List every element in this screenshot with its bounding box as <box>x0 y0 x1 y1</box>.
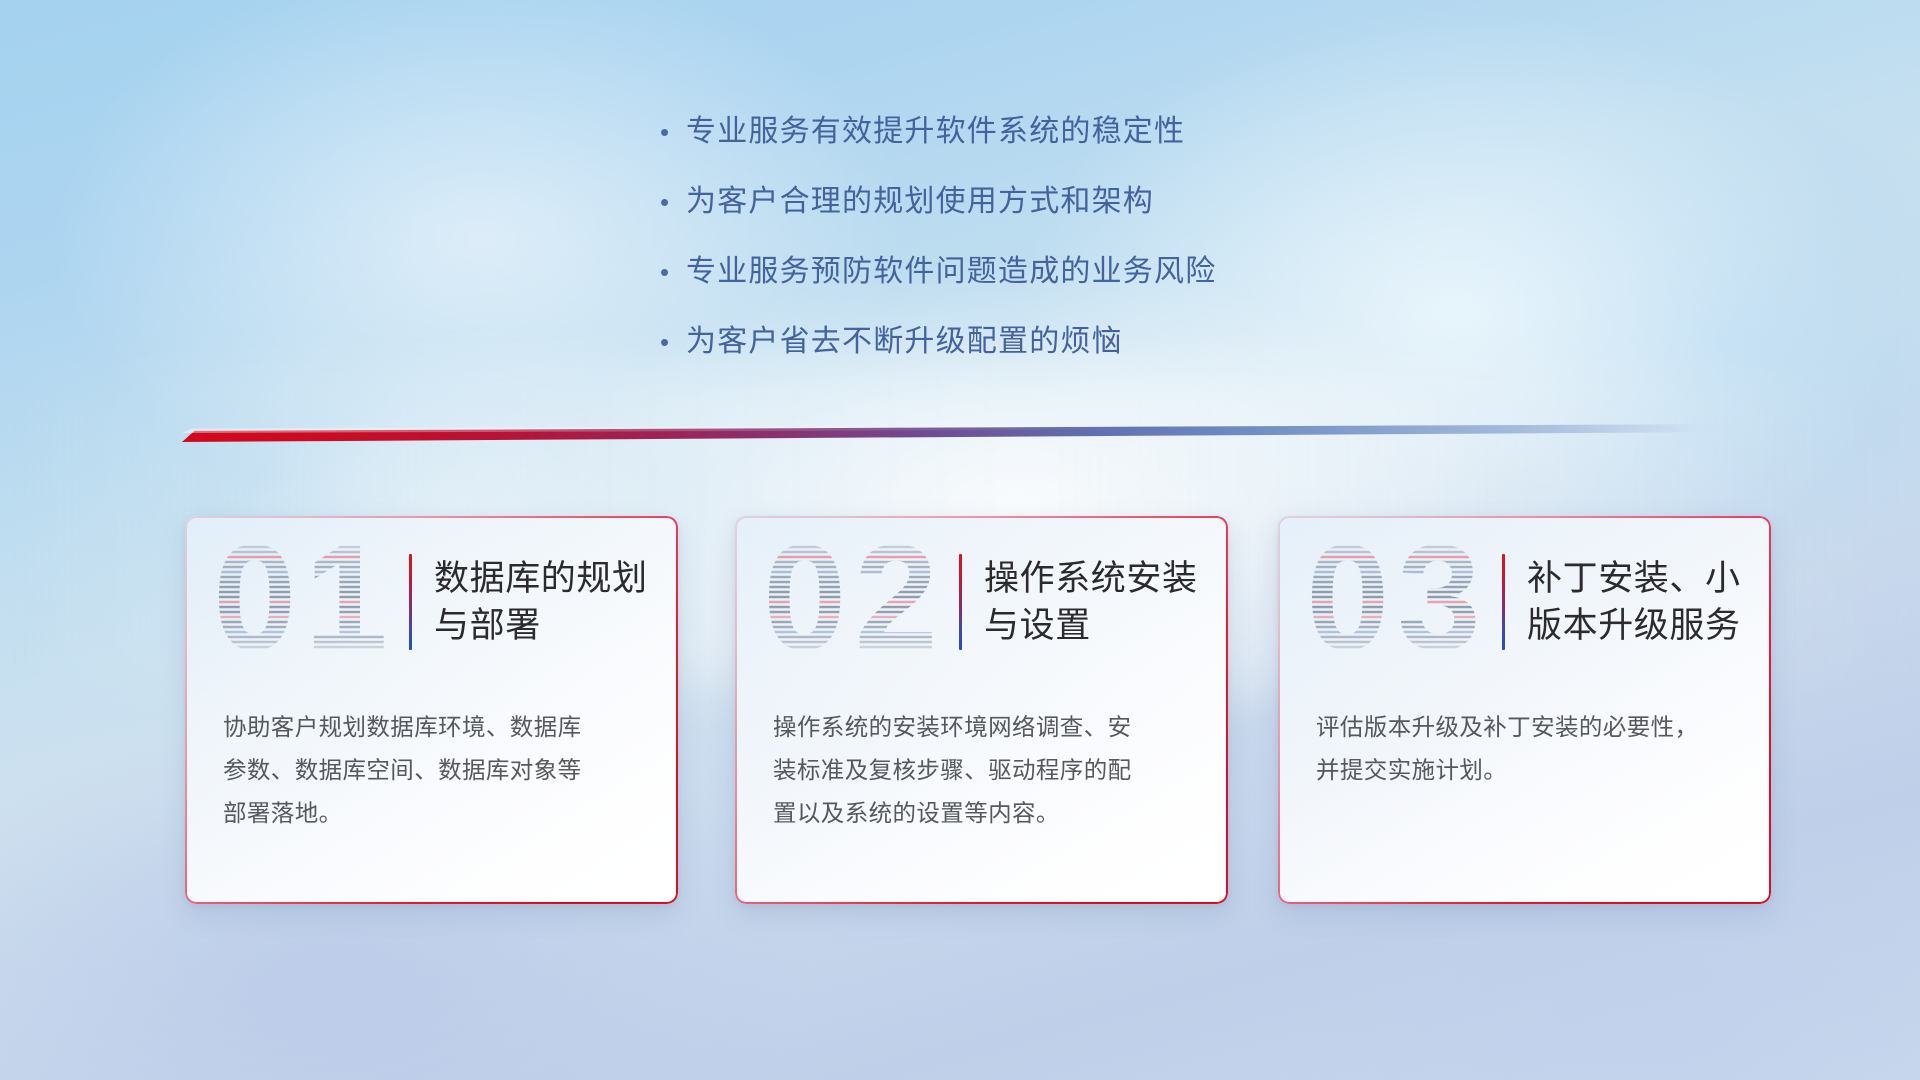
card-header: 02 <box>735 532 1228 672</box>
card-row: 01 <box>0 516 1920 928</box>
card-description-line1: 评估版本升级及补丁安装的必要性， <box>1316 706 1737 749</box>
striped-number-glyph: 01 <box>213 537 409 667</box>
card-title-line2: 与设置 <box>984 602 1212 649</box>
striped-number-glyph: 03 <box>1306 537 1502 667</box>
card-title: 数据库的规划 与部署 <box>434 555 678 649</box>
card-description-line2: 参数、数据库空间、数据库对象等 <box>223 749 644 792</box>
card-title-accent-bar <box>959 554 962 650</box>
service-card-03[interactable]: 03 <box>1278 516 1771 904</box>
bullet-item: • 专业服务预防软件问题造成的业务风险 <box>660 252 1560 292</box>
card-number-02: 02 <box>763 537 959 667</box>
card-title-line1: 操作系统安装 <box>984 555 1212 602</box>
card-description: 评估版本升级及补丁安装的必要性， 并提交实施计划。 <box>1316 706 1737 792</box>
card-number-01: 01 <box>213 537 409 667</box>
bullet-text: 专业服务预防软件问题造成的业务风险 <box>686 252 1216 292</box>
bullet-dot-icon: • <box>660 182 686 222</box>
card-header: 01 <box>185 532 678 672</box>
card-title-line2: 与部署 <box>434 602 662 649</box>
card-title: 操作系统安装 与设置 <box>984 555 1228 649</box>
card-header: 03 <box>1278 532 1771 672</box>
bullet-dot-icon: • <box>660 252 686 292</box>
bullet-item: • 为客户合理的规划使用方式和架构 <box>660 182 1560 222</box>
slide-canvas: • 专业服务有效提升软件系统的稳定性 • 为客户合理的规划使用方式和架构 • 专… <box>0 0 1920 1080</box>
bullet-text: 专业服务有效提升软件系统的稳定性 <box>686 112 1185 152</box>
card-title-accent-bar <box>409 554 412 650</box>
bullet-list: • 专业服务有效提升软件系统的稳定性 • 为客户合理的规划使用方式和架构 • 专… <box>660 112 1560 392</box>
card-description: 操作系统的安装环境网络调查、安 装标准及复核步骤、驱动程序的配 置以及系统的设置… <box>773 706 1194 835</box>
bullet-dot-icon: • <box>660 112 686 152</box>
bullet-item: • 为客户省去不断升级配置的烦恼 <box>660 322 1560 362</box>
section-divider <box>182 424 1744 442</box>
card-title-line2: 版本升级服务 <box>1527 602 1755 649</box>
bullet-item: • 专业服务有效提升软件系统的稳定性 <box>660 112 1560 152</box>
bullet-text: 为客户省去不断升级配置的烦恼 <box>686 322 1123 362</box>
card-title-line1: 数据库的规划 <box>434 555 662 602</box>
card-description-line2: 装标准及复核步骤、驱动程序的配 <box>773 749 1194 792</box>
card-number-03: 03 <box>1306 537 1502 667</box>
service-card-02[interactable]: 02 <box>735 516 1228 904</box>
service-card-01[interactable]: 01 <box>185 516 678 904</box>
card-description-line3: 置以及系统的设置等内容。 <box>773 792 1194 835</box>
card-description: 协助客户规划数据库环境、数据库 参数、数据库空间、数据库对象等 部署落地。 <box>223 706 644 835</box>
card-description-line1: 操作系统的安装环境网络调查、安 <box>773 706 1194 749</box>
divider-gradient-bar <box>182 424 1744 442</box>
bullet-text: 为客户合理的规划使用方式和架构 <box>686 182 1154 222</box>
striped-number-glyph: 02 <box>763 537 959 667</box>
card-description-line1: 协助客户规划数据库环境、数据库 <box>223 706 644 749</box>
card-description-line2: 并提交实施计划。 <box>1316 749 1737 792</box>
card-title-accent-bar <box>1502 554 1505 650</box>
card-description-line3: 部署落地。 <box>223 792 644 835</box>
card-title: 补丁安装、小 版本升级服务 <box>1527 555 1771 649</box>
bullet-dot-icon: • <box>660 322 686 362</box>
card-title-line1: 补丁安装、小 <box>1527 555 1755 602</box>
